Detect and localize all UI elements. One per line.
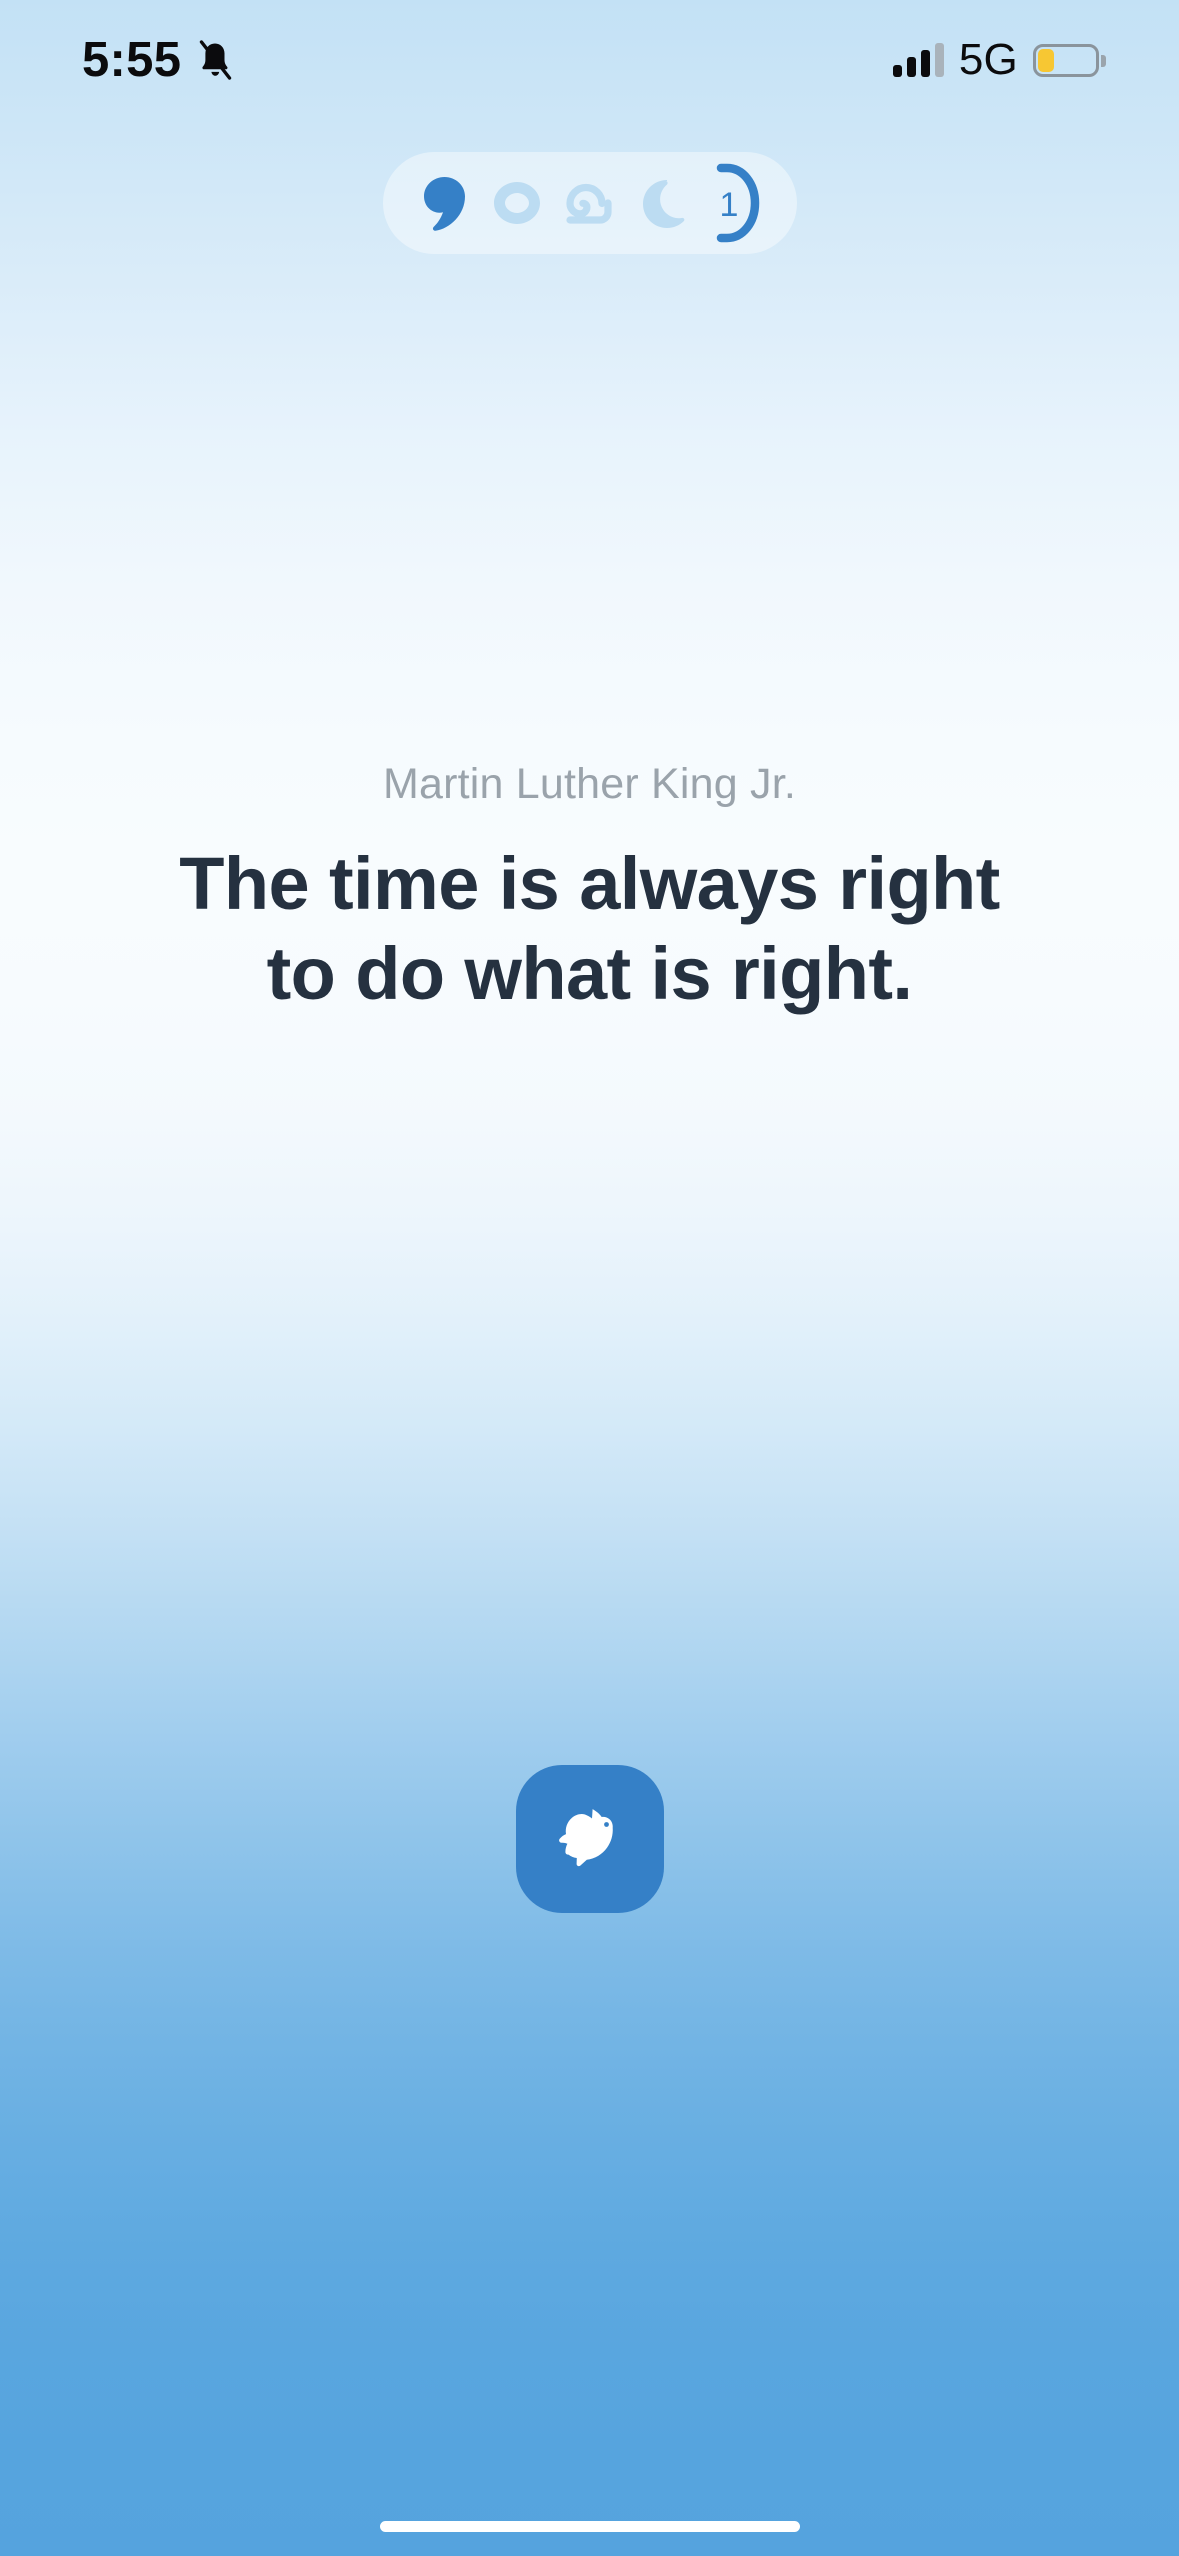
quote-text: The time is always right to do what is r…	[140, 839, 1040, 1018]
battery-low-power-icon	[1033, 44, 1099, 77]
top-nav-pill[interactable]: 1	[383, 152, 797, 254]
crescent-moon-icon[interactable]	[632, 172, 694, 234]
quote-mark-icon[interactable]	[413, 172, 475, 234]
background-gradient	[0, 0, 1179, 2556]
streak-ring-icon[interactable]: 1	[705, 172, 767, 234]
network-type-label: 5G	[959, 38, 1018, 82]
dove-action-button[interactable]	[516, 1765, 664, 1913]
wind-spiral-icon[interactable]	[559, 172, 621, 234]
status-bar-right: 5G	[893, 38, 1115, 82]
eye-ring-icon[interactable]	[486, 172, 548, 234]
dove-icon	[551, 1803, 629, 1875]
status-bar: 5:55 5G	[0, 0, 1179, 120]
bell-slash-icon	[195, 38, 235, 82]
status-bar-clock: 5:55	[82, 36, 181, 85]
status-bar-left: 5:55	[64, 36, 235, 85]
cellular-bars-icon	[893, 43, 944, 77]
streak-count: 1	[719, 186, 738, 224]
home-indicator[interactable]	[380, 2521, 800, 2532]
quote-block: Martin Luther King Jr. The time is alway…	[0, 760, 1179, 1018]
quote-author: Martin Luther King Jr.	[383, 760, 796, 809]
